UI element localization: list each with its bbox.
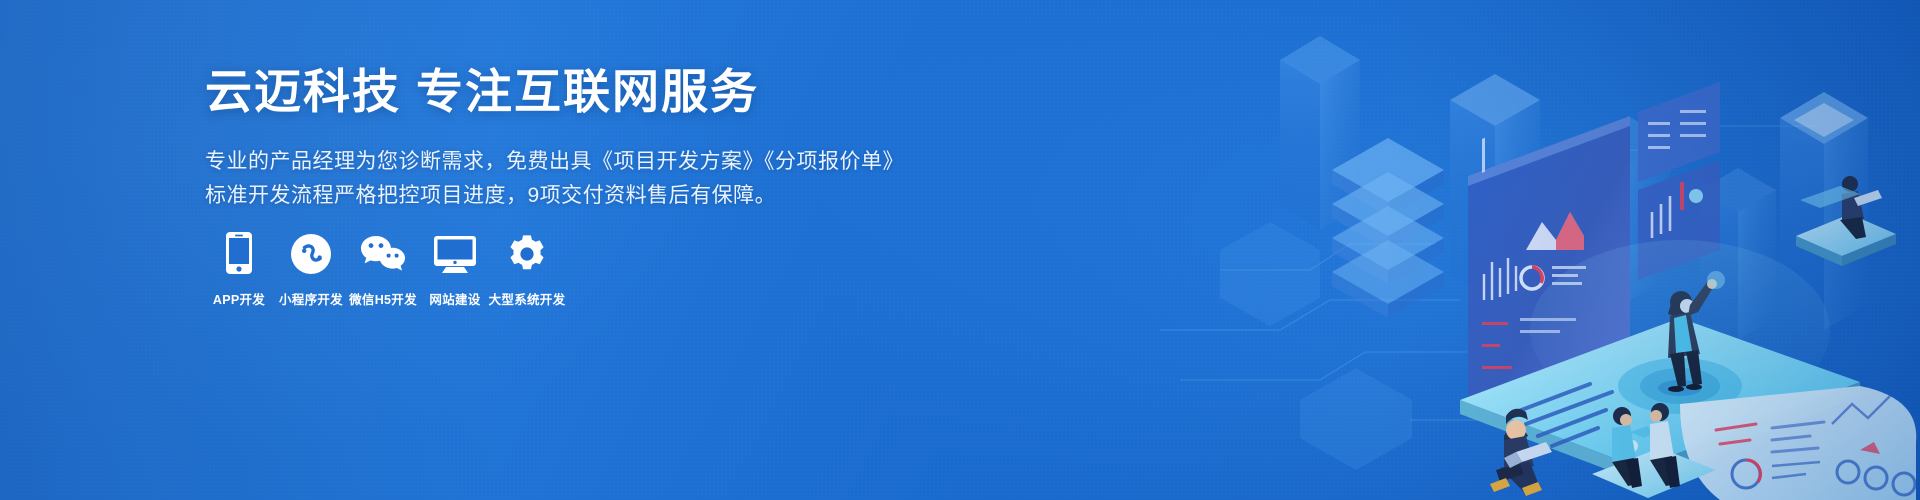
service-label-website: 网站建设 (429, 289, 480, 308)
service-label-wechat: 微信H5开发 (349, 289, 417, 308)
banner-copy: 云迈科技 专注互联网服务 专业的产品经理为您诊断需求，免费出具《项目开发方案》《… (205, 64, 925, 213)
subtitle-line-2: 标准开发流程严格把控项目进度，9项交付资料售后有保障。 (205, 179, 925, 213)
mini-program-icon (291, 228, 331, 274)
subtitle-line-1: 专业的产品经理为您诊断需求，免费出具《项目开发方案》《分项报价单》 (205, 145, 925, 179)
service-label-miniprogram: 小程序开发 (279, 289, 343, 308)
server-stack (1332, 138, 1444, 318)
service-item-app[interactable]: APP开发 (203, 228, 275, 308)
wechat-icon (360, 228, 406, 274)
service-label-app: APP开发 (213, 289, 265, 308)
hero-banner: 云迈科技 专注互联网服务 专业的产品经理为您诊断需求，免费出具《项目开发方案》《… (0, 0, 1920, 500)
service-icon-list: APP开发 小程序开发 (203, 228, 563, 308)
mobile-phone-icon (226, 228, 252, 274)
isometric-tech-illustration (1160, 0, 1920, 500)
service-label-system: 大型系统开发 (489, 289, 566, 308)
service-item-system[interactable]: 大型系统开发 (491, 228, 563, 308)
service-item-miniprogram[interactable]: 小程序开发 (275, 228, 347, 308)
gear-icon (507, 228, 547, 274)
monitor-icon (434, 228, 476, 274)
service-item-wechat[interactable]: 微信H5开发 (347, 228, 419, 308)
page-title: 云迈科技 专注互联网服务 (205, 64, 925, 119)
service-item-website[interactable]: 网站建设 (419, 228, 491, 308)
